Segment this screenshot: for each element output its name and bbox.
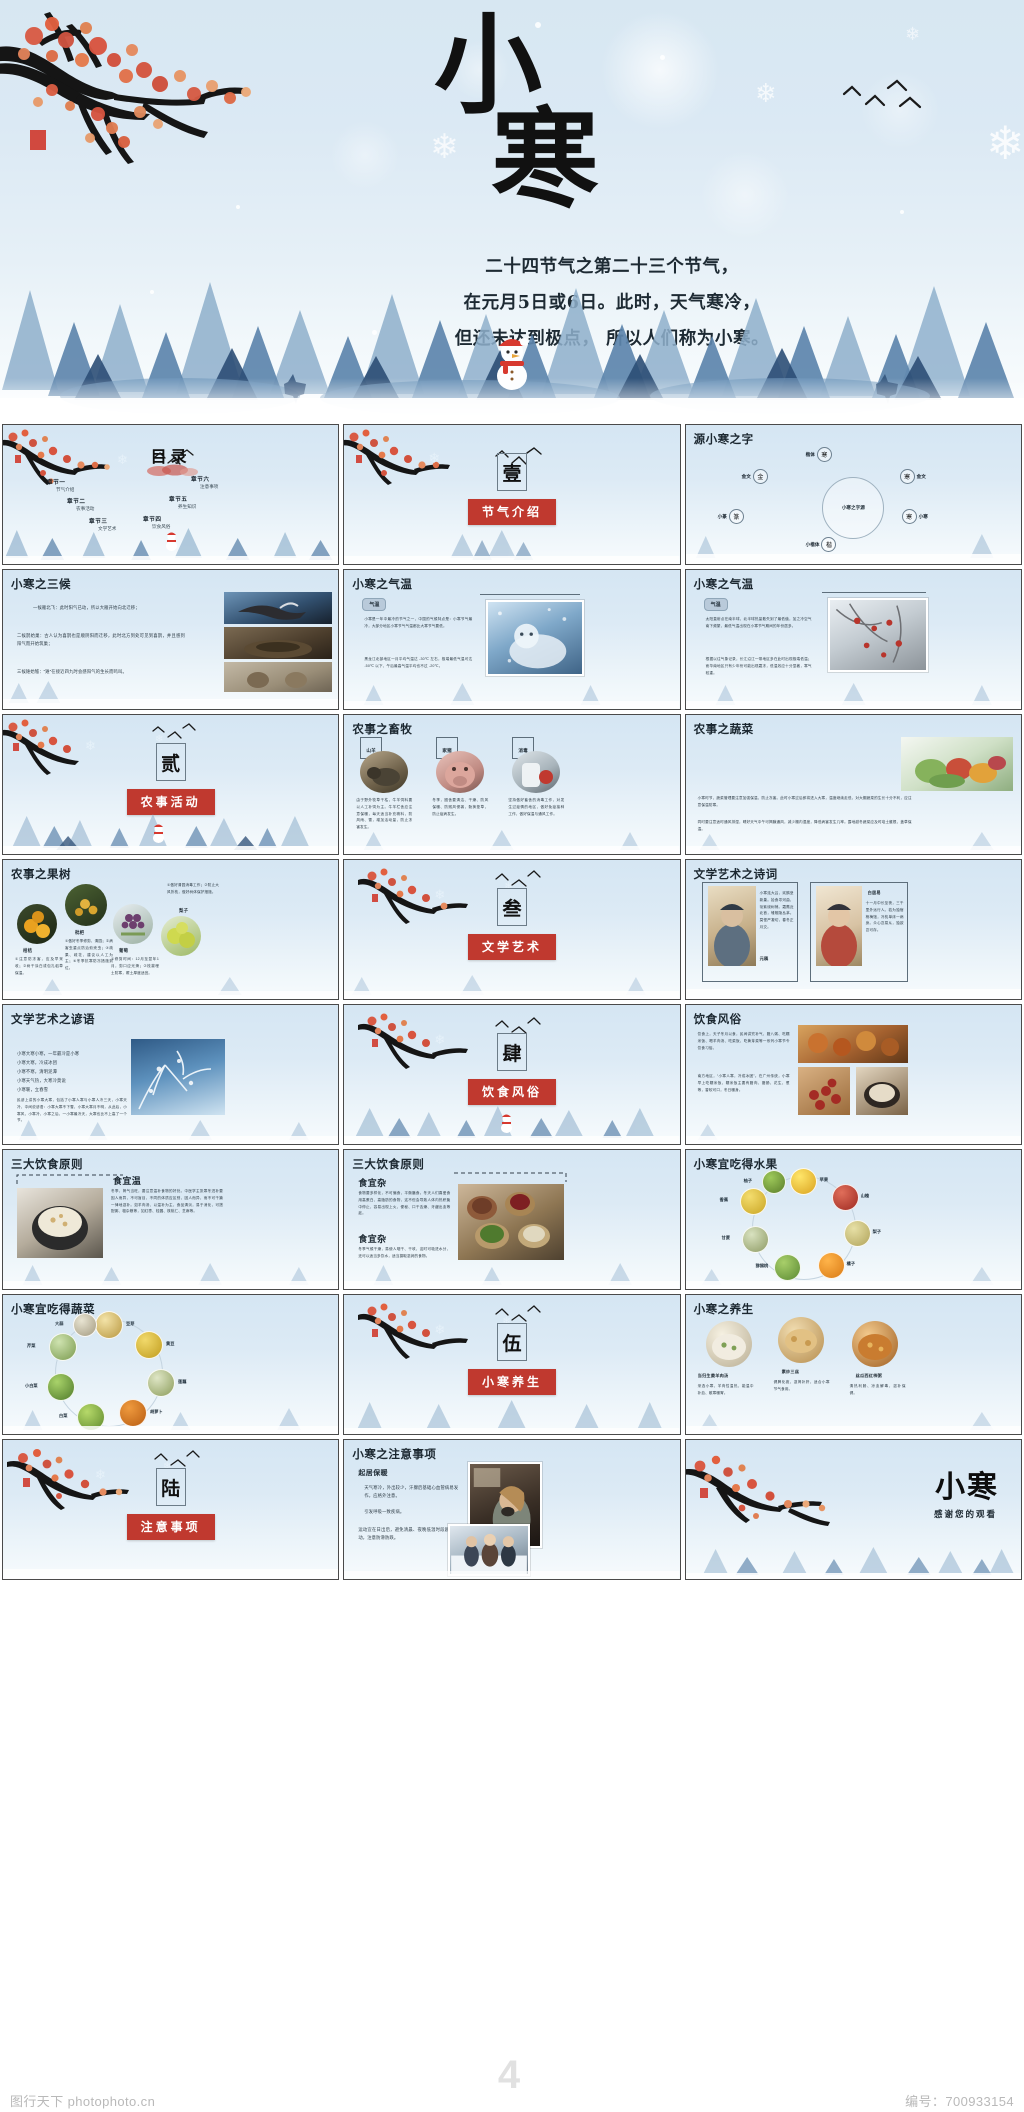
mini-forest [344, 812, 679, 854]
proverb-line-4: 小寒天气热，大寒冷莫说 [17, 1076, 117, 1085]
proverb-line-2: 小寒大寒，冷成冰团 [17, 1058, 117, 1067]
snowflake-icon: ❄ [434, 1323, 445, 1336]
diet-subtitle: 食宜杂 [358, 1176, 386, 1189]
birds-flock-icon [151, 723, 201, 743]
plum-blossom-branch [343, 425, 460, 491]
mini-forest [686, 1102, 1021, 1144]
light-bloom [330, 120, 400, 190]
mini-forest [686, 1533, 1021, 1579]
slide-title: 小寒之气温 [694, 576, 754, 592]
photo-goose [224, 592, 332, 624]
mini-forest [344, 957, 679, 999]
slide-health[interactable]: 小寒之养生 当归生姜羊肉汤 采选小寒，羊肉性温热，能温中补血、散寒暖胃。 素炒三… [685, 1294, 1022, 1435]
origin-node-2: 金文 金 [742, 469, 768, 484]
toc-item-6[interactable]: 章节六 注意事项 [191, 475, 218, 490]
divider-line [822, 592, 926, 593]
poem-text-2: 十一月中长至夜，三千里外远行人。若为独宿杨梅馆，冷枕单床一病身。众心岂易从，独欲… [866, 900, 904, 934]
veg-label: 黄豆 [166, 1341, 174, 1347]
mini-forest [344, 1247, 679, 1289]
mini-forest [686, 1392, 1021, 1434]
photo-health-2 [778, 1317, 824, 1363]
weather-badge: 气温 [362, 598, 386, 611]
mini-forest [3, 802, 338, 854]
fruit-label: 香蕉 [720, 1197, 728, 1203]
proverb-lines: 小寒大寒小寒，一年最冷是小寒 小寒大寒，冷成冰团 小寒不寒，清明泥潭 小寒天气热… [17, 1049, 117, 1094]
slide-section-2[interactable]: ❄ ❄ 贰 农事活动 [2, 714, 339, 855]
origin-node-label: 小篆 [718, 514, 727, 520]
toc-item-num: 章节五 [169, 495, 196, 503]
slide-title: 三大饮食原则 [11, 1156, 83, 1172]
toc-item-label: 节气介绍 [56, 487, 74, 493]
light-bloom [700, 150, 790, 240]
light-bloom [600, 10, 720, 130]
fruit-label: 柚子 [744, 1178, 752, 1184]
photo-veg [73, 1313, 97, 1337]
food-custom-para-1: 饮食上，天子冬月以食，民间讲究补气、腊八粥、吃糯米饭、喝羊肉汤、吃菜饭、吃黄芽菜… [698, 1031, 790, 1051]
section-number: 伍 [497, 1323, 527, 1361]
birds-flock-icon [153, 1450, 205, 1470]
photo-health-3 [852, 1321, 898, 1367]
fruit-node-8: 柚子 [762, 1170, 786, 1194]
section-number: 叁 [497, 888, 527, 926]
photo-fruit [844, 1220, 871, 1247]
photo-festive-dishes [798, 1025, 908, 1063]
food-custom-para-2: 南方地区，“小寒人寒，冷成冰团”。在广州传统，小寒早上吃糯米饭，糯米饭主要有腊肉… [698, 1073, 790, 1093]
mini-forest [686, 1247, 1021, 1289]
mini-forest [3, 957, 338, 999]
photo-veg [135, 1331, 163, 1359]
mini-forest [686, 812, 1021, 854]
snowman-icon [491, 322, 533, 392]
birds-flock-icon [494, 1305, 546, 1325]
slide-weather-2[interactable]: 小寒之气温 气温 太阳直射点在南半球，北半球热量散失到了最低值，加之冷空气南下频… [685, 569, 1022, 710]
photo-veg [49, 1333, 77, 1361]
origin-node-label: 金文 [742, 474, 751, 480]
fruit-label: 苹果 [820, 1177, 828, 1183]
slide-diet-mixed[interactable]: 三大饮食原则 食宜杂 食物要多样化，不可偏食，平衡膳食。冬天人们喜爱食用高蛋白、… [343, 1149, 680, 1290]
plum-blossom-branch [0, 2, 324, 192]
slide-title: 农事之蔬菜 [694, 721, 754, 737]
mini-forest [3, 1392, 338, 1434]
section-number: 陆 [156, 1468, 186, 1506]
photo-loquat [65, 884, 107, 926]
photo-nest [224, 627, 332, 659]
photo-grape [113, 904, 153, 944]
birds-flock-icon [840, 78, 930, 118]
proverb-line-1: 小寒大寒小寒，一年最冷是小寒 [17, 1049, 117, 1058]
mini-forest [3, 1537, 338, 1579]
slide-proverb[interactable]: 文学艺术之谚语 小寒大寒小寒，一年最冷是小寒 小寒大寒，冷成冰团 小寒不寒，清明… [2, 1004, 339, 1145]
mini-forest [3, 1102, 338, 1144]
slide-title: 农事之畜牧 [352, 721, 412, 737]
veg-node-1: 豆芽 [95, 1311, 123, 1339]
veg-node-7: 芹菜 [49, 1333, 77, 1361]
mini-forest [3, 1247, 338, 1289]
fruit-text-4: ①做好清园消毒工作；②防止大风折枝，做好树体保护措施。 [167, 882, 219, 896]
watermark-source: 图行天下 photophoto.cn [10, 2091, 155, 2110]
slide-section-6[interactable]: ❄ ❄ 陆 注意事项 [2, 1439, 339, 1580]
toc-item-num: 章节二 [67, 497, 94, 505]
mini-forest [344, 1537, 679, 1579]
fruit-label-2: 枇杷 [75, 930, 84, 936]
birds-flock-icon [153, 449, 199, 469]
snow-dot [236, 205, 240, 209]
snowflake-icon: ❄ [434, 1033, 445, 1046]
veg-para-1: 小寒时节，蔬菜管理要注意加强保温，防止冻害。此时小寒过后即将进入大寒，温度继续走… [698, 795, 912, 809]
snow-dot [660, 55, 665, 60]
toc-item-1[interactable]: 章节一 节气介绍 [47, 478, 74, 493]
birds-flock-icon [494, 870, 546, 890]
photo-vegetables [901, 737, 1013, 791]
slide-title: 小寒之注意事项 [352, 1446, 436, 1462]
mini-forest [344, 1386, 679, 1434]
diet-warm-text: 冬季，肾气当旺，要注意温补食物的好处。中医学主张寒冬进补要因人而异，不可盲目，不… [111, 1188, 223, 1215]
photo-health-1 [706, 1321, 752, 1367]
snow-dot [900, 210, 904, 214]
snowflake-icon: ❄ [986, 120, 1024, 166]
slide-section-4[interactable]: ❄ 肆 饮食风俗 [343, 1004, 680, 1145]
toc-item-num: 章节六 [191, 475, 218, 483]
mini-forest [344, 522, 679, 564]
caution-subtitle: 起居保暖 [358, 1468, 388, 1478]
photo-citrus [17, 904, 57, 944]
snowflake-icon: ❄ [434, 888, 445, 901]
snowman-icon [164, 527, 179, 552]
slide-title: 三大饮食原则 [352, 1156, 424, 1172]
diet-subtitle-2: 食宜杂 [358, 1232, 386, 1245]
toc-item-label: 农事活动 [76, 506, 94, 512]
slide-origin[interactable]: 源小寒之字 小寒之字源 楷体 寒 金文 金 小篆 篆 寒 金文 寒 小寒 小楷体… [685, 424, 1022, 565]
caution-para-2: 引发呼吸一致疾病。 [364, 1508, 458, 1516]
poem-text-1: 小寒连大吕，欢鹊垒新巢。拾食寻河曲，衔紫绕树梢。霜鹰近北首，雊雉隐丛茅。莫怪严凝… [760, 890, 794, 931]
origin-node-4: 寒 金文 [900, 469, 926, 484]
final-subtitle: 感谢您的观看 [934, 1508, 997, 1520]
photo-frosted-berries [828, 598, 928, 672]
snowflake-icon: ❄ [428, 451, 440, 465]
veg-label: 莲藕 [178, 1379, 186, 1385]
photo-fruit [832, 1184, 859, 1211]
slide-section-3[interactable]: ❄ ❄ 叁 文学艺术 [343, 859, 680, 1000]
fruit-node-3: 梨子 [844, 1220, 871, 1247]
slide-fruit-ring[interactable]: 小寒宜吃得水果 苹果 山楂 梨子 橘子 猕猴桃 甘蔗 香蕉 [685, 1149, 1022, 1290]
toc-item-2[interactable]: 章节二 农事活动 [67, 497, 94, 512]
snowflake-icon: ❄ [755, 80, 777, 106]
fruit-label: 梨子 [873, 1229, 881, 1235]
caution-para-1: 天气寒冷，外出较少，汗腺后基础心血管病易发作，应格外注意。 [364, 1484, 458, 1500]
health-label-2: 素炒三丝 [782, 1369, 800, 1375]
health-label-3: 丝瓜西红柿粥 [856, 1373, 882, 1379]
photo-pear [161, 916, 201, 956]
fruit-label: 山楂 [861, 1193, 869, 1199]
snowflake-icon: ❄ [117, 453, 128, 466]
origin-node-label: 楷体 [806, 452, 815, 458]
slide-title: 文学艺术之诗词 [694, 866, 778, 882]
slide-title: 小寒之气温 [352, 576, 412, 592]
origin-node-glyph: 寒 [817, 447, 832, 462]
mini-forest [344, 667, 679, 709]
slide-title: 农事之果树 [11, 866, 71, 882]
health-text-2: 健脾化痰、滋肾补肝，适合小寒节气食用。 [774, 1379, 830, 1393]
slide-title: 小寒之养生 [694, 1301, 754, 1317]
slide-toc[interactable]: 目录 ❄ 章节一 节气介绍 章节二 农事活动 章节三 文学艺术 章节四 饮食风俗 [2, 424, 339, 565]
fruit-label-3: 葡萄 [119, 948, 128, 954]
veg-node-8: 大蒜 [73, 1313, 97, 1337]
photo-poet-2 [816, 886, 862, 966]
slide-vegetables[interactable]: 农事之蔬菜 小寒时节，蔬菜管理要注意加强保温，防止冻害。此时小寒过后即将进入大寒… [685, 714, 1022, 855]
sanhou-para-1: 一候雁北飞：此时阳气已动，所以大雁开始向北迁移； [33, 604, 183, 612]
poem-author-2: 白居易 [868, 890, 881, 896]
slide-livestock[interactable]: 农事之畜牧 山羊 由于野外牧草干枯，牛羊饲料要以人工补饲为主。牛羊栏舍应注意保暖… [343, 714, 680, 855]
slide-title: 源小寒之字 [694, 431, 754, 447]
watermark-bar: 图行天下 photophoto.cn 编号：700933154 [0, 2088, 1024, 2112]
final-title: 小寒 [935, 1462, 999, 1506]
snowflake-icon: ❄ [95, 1468, 106, 1481]
fruit-label: 甘蔗 [722, 1235, 730, 1241]
veg-label: 豆芽 [126, 1321, 134, 1327]
slide-sanhou[interactable]: 小寒之三候 一候雁北飞：此时阳气已动，所以大雁开始向北迁移； 二候鹊始巢：古人认… [2, 569, 339, 710]
origin-node-glyph: 金 [753, 469, 768, 484]
plum-blossom-branch [358, 864, 478, 930]
section-number: 贰 [156, 743, 186, 781]
diet-mixed-text: 食物要多样化，不可偏食，平衡膳食。冬天人们喜爱食用高蛋白、高脂肪的食物，这不但会… [358, 1190, 450, 1217]
veg-label: 芹菜 [27, 1343, 35, 1349]
plum-blossom-branch [2, 715, 119, 781]
weather1-para-1: 小寒是一年中最冷的节气之一，中国的气候特点是：小寒节气最冷，大部分地区小寒节气气… [364, 616, 472, 630]
slide-title: 小寒之三候 [11, 576, 71, 592]
light-bloom [450, 40, 510, 100]
slide-section-1[interactable]: ❄ 壹 节气介绍 [343, 424, 680, 565]
fruit-node-2: 山楂 [832, 1184, 859, 1211]
origin-node-label: 金文 [917, 474, 926, 480]
mini-forest [686, 667, 1021, 709]
dashed-bracket [15, 1172, 125, 1186]
veg-node-2: 黄豆 [135, 1331, 163, 1359]
slide-section-5[interactable]: ❄ ❄ 伍 小寒养生 [343, 1294, 680, 1435]
hero-slide: ❄ ❄ ❄ ❄ [0, 0, 1024, 420]
slide-final[interactable]: 小寒 感谢您的观看 [685, 1439, 1022, 1580]
mini-forest [686, 522, 1021, 564]
slide-weather-1[interactable]: 小寒之气温 气温 小寒是一年中最冷的节气之一，中国的气候特点是：小寒节气最冷，大… [343, 569, 680, 710]
photo-disinfect [512, 751, 560, 793]
photo-goat [360, 751, 408, 793]
plum-blossom-branch [358, 1009, 478, 1075]
proverb-line-5: 小寒暖，立春雪 [17, 1085, 117, 1094]
toc-item-5[interactable]: 章节五 养生知识 [169, 495, 196, 510]
plum-blossom-branch [685, 1450, 832, 1530]
plum-blossom-branch [358, 1299, 478, 1365]
snowman-icon [151, 819, 166, 844]
toc-item-label: 注意事项 [200, 484, 218, 490]
snowman-icon [499, 1109, 514, 1134]
mini-forest [3, 667, 338, 709]
snowflake-icon: ❄ [430, 130, 459, 164]
section-number: 壹 [497, 453, 527, 491]
photo-veg [95, 1311, 123, 1339]
divider-line [480, 594, 580, 595]
slide-food-custom[interactable]: 饮食风俗 饮食上，天子冬月以食，民间讲究补气、腊八粥、吃糯米饭、喝羊肉汤、吃菜饭… [685, 1004, 1022, 1145]
slide-fruit-trees[interactable]: 农事之果树 柑桔 ①注意防冻害，应及早采收；②树干涂白或包扎稻草保温。 枇杷 ①… [2, 859, 339, 1000]
slide-poem[interactable]: 文学艺术之诗词 元稹 小寒连大吕，欢鹊垒新巢。拾食寻河曲，衔紫绕树梢。霜鹰近北首… [685, 859, 1022, 1000]
slide-title: 饮食风俗 [694, 1011, 742, 1027]
fruit-label-4: 梨子 [179, 908, 188, 914]
sanhou-para-2: 二候鹊始巢：古人认为喜鹊也是顺阴阳而迁移，此时北方到处可见到喜鹊，并且感到阳气而… [17, 632, 185, 648]
weather-badge: 气温 [704, 598, 728, 611]
section-number: 肆 [497, 1033, 527, 1071]
watermark-id: 编号：700933154 [905, 2091, 1014, 2110]
photo-fruit [762, 1170, 786, 1194]
dashed-bracket [452, 1170, 568, 1184]
slide-veg-ring[interactable]: 小寒宜吃得蔬菜 豆芽 黄豆 莲藕 胡萝卜 白菜 小白菜 芹菜 [2, 1294, 339, 1435]
origin-node-1: 楷体 寒 [806, 447, 832, 462]
photo-poet-1 [708, 886, 756, 966]
proverb-line-3: 小寒不寒，清明泥潭 [17, 1067, 117, 1076]
origin-node-glyph: 寒 [900, 469, 915, 484]
snowflake-icon: ❄ [85, 739, 96, 752]
fruit-label-1: 柑桔 [23, 948, 32, 954]
veg-label: 大蒜 [55, 1321, 63, 1327]
photo-fruit [790, 1168, 817, 1195]
photo-pig [436, 751, 484, 793]
plum-blossom-branch [7, 1444, 137, 1516]
weather2-para-1: 太阳直射点在南半球，北半球热量散失到了最低值，加之冷空气南下频繁，最低气温出现在… [706, 616, 812, 630]
slide-grid: 目录 ❄ 章节一 节气介绍 章节二 农事活动 章节三 文学艺术 章节四 饮食风俗 [0, 420, 1024, 2112]
photo-snow-leopard [486, 600, 584, 676]
snow-dot [535, 22, 541, 28]
toc-item-label: 养生知识 [178, 504, 196, 510]
veg-label: 小白菜 [25, 1383, 38, 1389]
snowflake-icon: ❄ [905, 25, 920, 43]
health-label-1: 当归生姜羊肉汤 [698, 1373, 729, 1379]
toc-item-num: 章节一 [47, 478, 74, 486]
slide-diet-warm[interactable]: 三大饮食原则 食宜温 冬季，肾气当旺，要注意温补食物的好处。中医学主张寒冬进补要… [2, 1149, 339, 1290]
mini-forest [686, 957, 1021, 999]
fruit-node-1: 苹果 [790, 1168, 817, 1195]
origin-node-label: 小寒 [919, 514, 928, 520]
hero-background: ❄ ❄ ❄ ❄ [0, 0, 1024, 420]
slide-title: 文学艺术之谚语 [11, 1011, 95, 1027]
slide-caution[interactable]: 小寒之注意事项 起居保暖 天气寒冷，外出较少，汗腺后基础心血管病易发作，应格外注… [343, 1439, 680, 1580]
